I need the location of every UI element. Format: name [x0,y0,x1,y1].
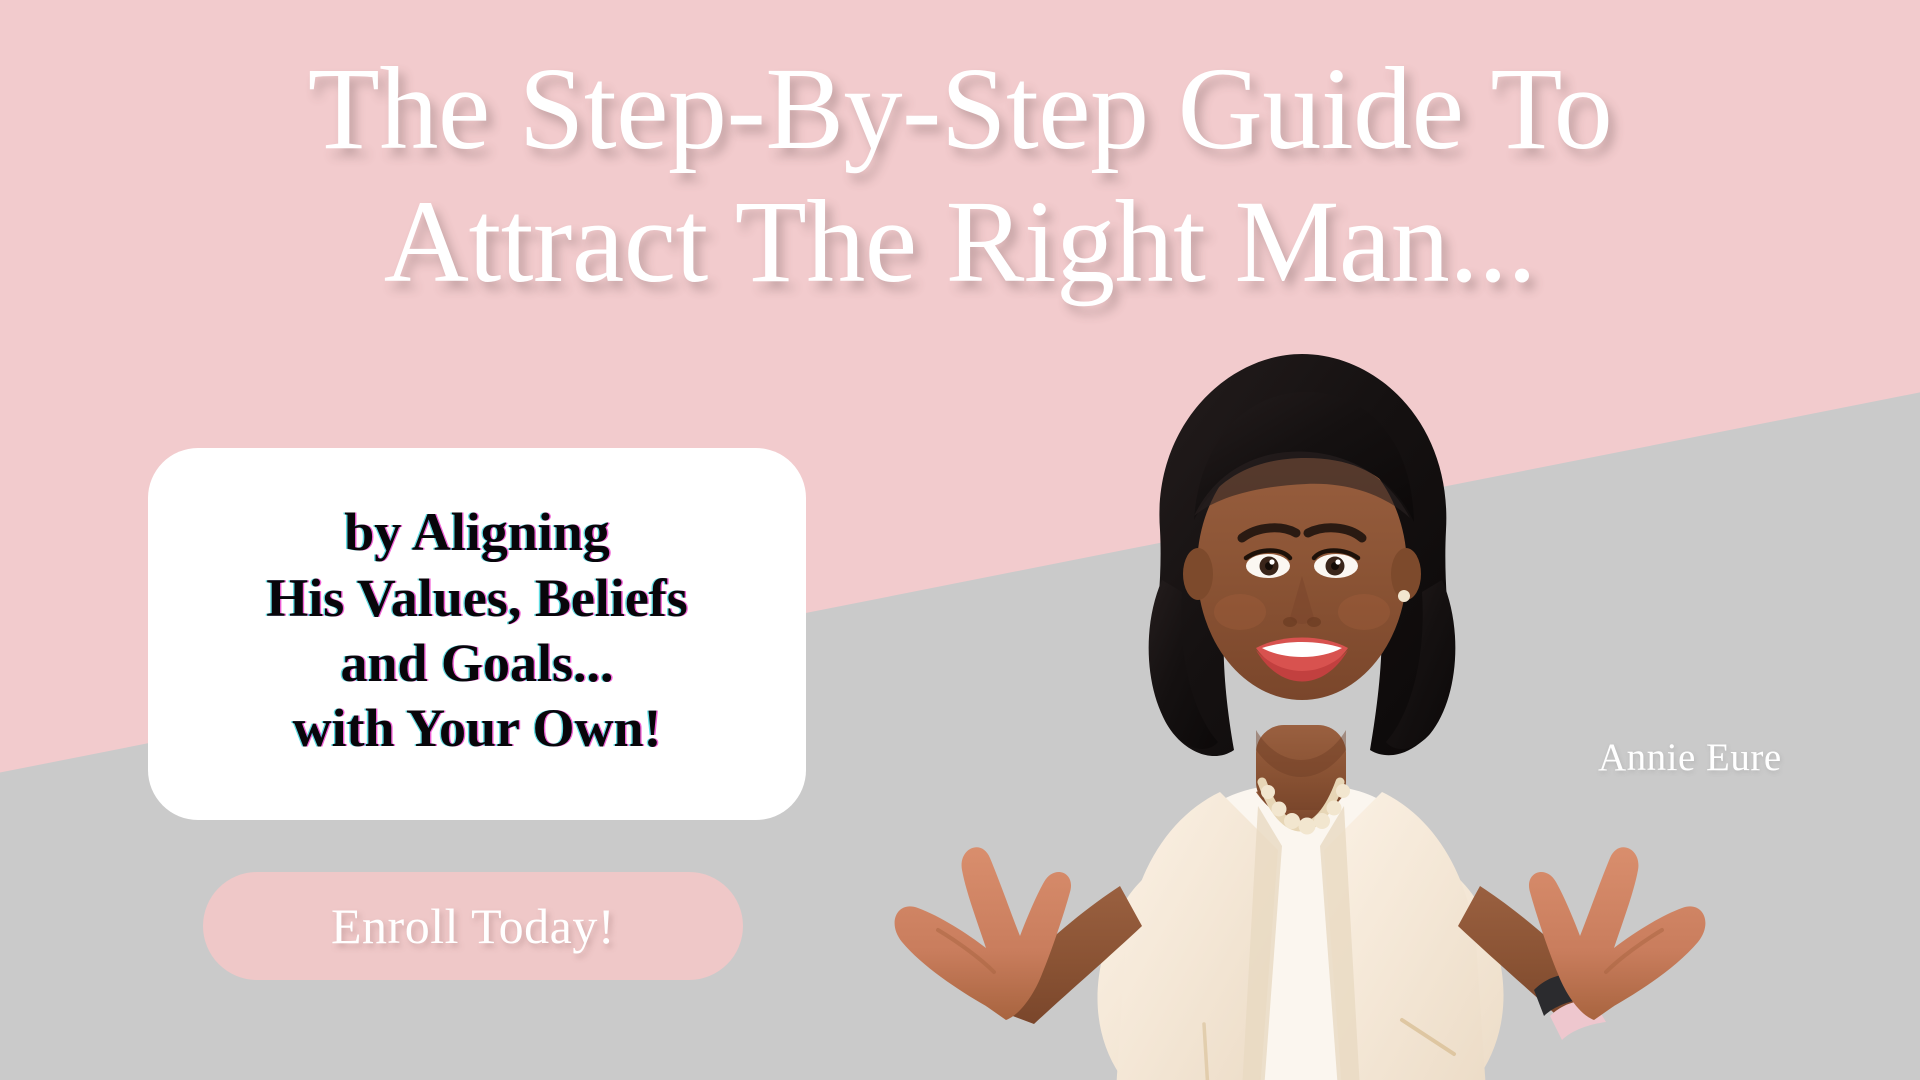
presenter-photo [790,330,1790,1080]
presenter-name: Annie Eure [1598,735,1782,780]
torso-group [1098,725,1504,1080]
enroll-today-button[interactable]: Enroll Today! [203,872,743,980]
card-line-1: by Aligning [174,500,780,565]
head-group [1149,354,1456,756]
headline-line-1: The Step-By-Step Guide To [70,48,1850,171]
subheading-card: by Aligning His Values, Beliefs and Goal… [148,448,806,820]
promo-banner: The Step-By-Step Guide To Attract The Ri… [0,0,1920,1080]
card-line-4: with Your Own! [174,696,780,761]
card-line-3: and Goals... [174,631,780,696]
card-line-2: His Values, Beliefs [174,566,780,631]
headline-line-2: Attract The Right Man... [70,181,1850,304]
page-title: The Step-By-Step Guide To Attract The Ri… [0,48,1920,303]
enroll-today-label: Enroll Today! [331,897,615,955]
